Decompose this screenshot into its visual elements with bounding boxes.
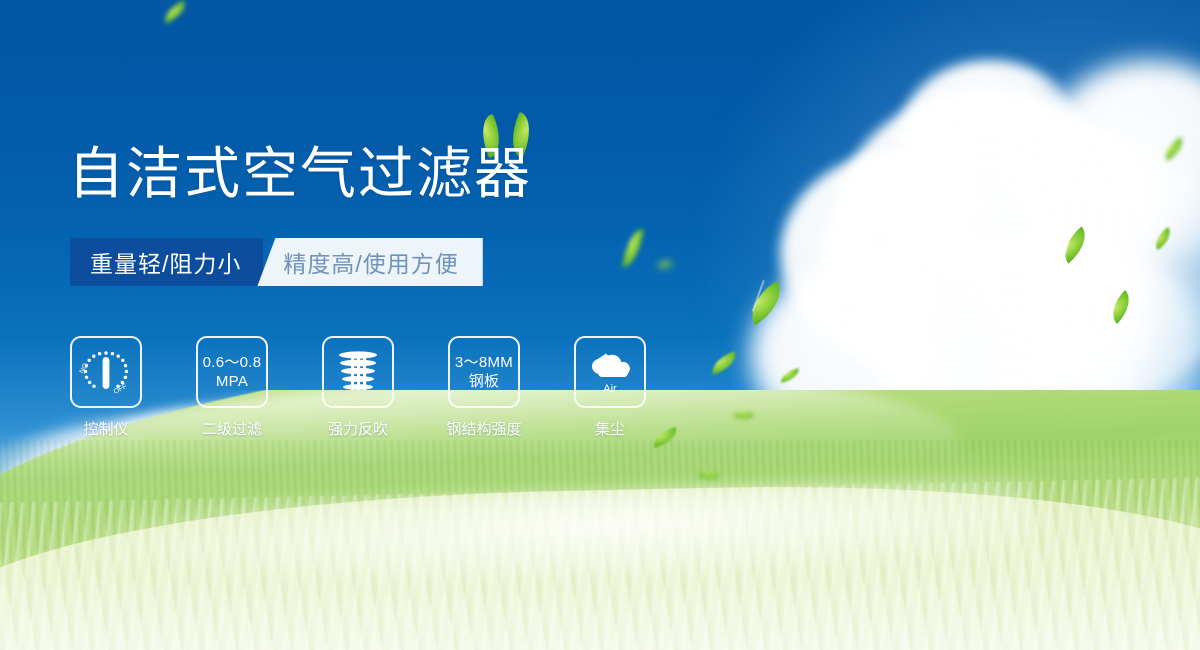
feature-caption: 二级过滤 — [202, 418, 262, 439]
filter-cartridge-icon — [332, 346, 384, 398]
air-label: Air — [603, 383, 617, 395]
control-dial-icon: NO OFF — [77, 344, 135, 400]
page-title: 自洁式空气过滤器 — [68, 140, 532, 208]
subtitle-primary: 重量轻/阻力小 — [70, 238, 263, 286]
feature-icon-box: 3～8MM 钢板 — [448, 336, 520, 408]
subtitle-band: 重量轻/阻力小 精度高/使用方便 — [70, 238, 483, 286]
feature-item[interactable]: Air 集尘 — [574, 336, 646, 439]
feature-icon-box — [322, 336, 394, 408]
feature-caption: 控制仪 — [83, 418, 128, 439]
feature-box-line2: MPA — [216, 372, 248, 391]
feature-item[interactable]: 0.6～0.8 MPA 二级过滤 — [196, 336, 268, 439]
feature-item[interactable]: 强力反吹 — [322, 336, 394, 439]
product-banner: 自洁式空气过滤器 重量轻/阻力小 精度高/使用方便 — [0, 0, 1200, 650]
feature-icon-box: NO OFF — [70, 336, 142, 408]
feature-list: NO OFF 控制仪 0.6～0.8 MPA 二级过滤 — [70, 336, 646, 439]
feature-caption: 钢结构强度 — [447, 418, 522, 439]
feature-box-line1: 3～8MM — [455, 353, 513, 372]
feature-box-line2: 钢板 — [469, 372, 500, 391]
feature-caption: 强力反吹 — [328, 418, 388, 439]
dial-label-off: OFF — [113, 383, 129, 396]
feature-box-line1: 0.6～0.8 — [203, 353, 262, 372]
air-cloud-icon: Air — [582, 347, 638, 397]
feature-icon-box: Air — [574, 336, 646, 408]
dial-label-no: NO — [79, 362, 90, 375]
subtitle-secondary: 精度高/使用方便 — [257, 238, 482, 286]
feature-item[interactable]: NO OFF 控制仪 — [70, 336, 142, 439]
feature-item[interactable]: 3～8MM 钢板 钢结构强度 — [448, 336, 520, 439]
feature-caption: 集尘 — [595, 418, 625, 439]
feature-icon-box: 0.6～0.8 MPA — [196, 336, 268, 408]
